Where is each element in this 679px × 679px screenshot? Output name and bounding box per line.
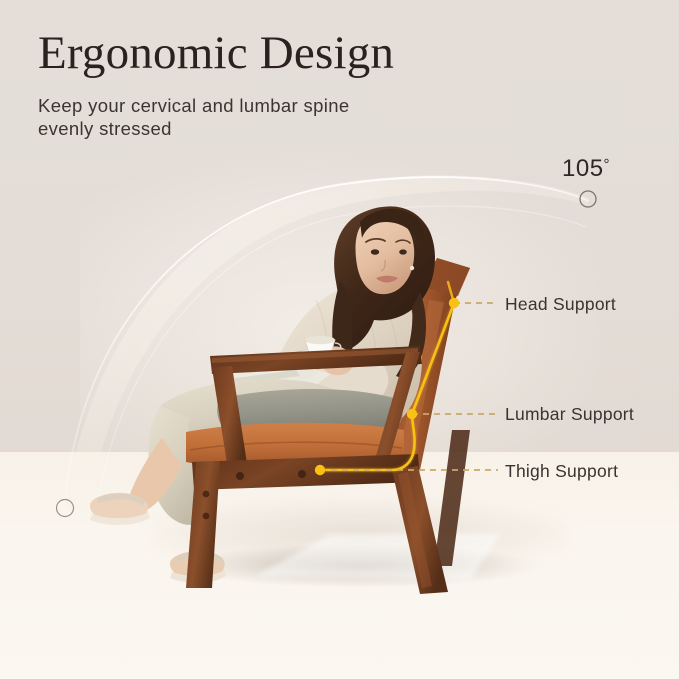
anchor-dot-head[interactable]	[449, 298, 459, 308]
callout-label-lumbar: Lumbar Support	[505, 404, 634, 425]
ergonomic-contour-line	[320, 303, 454, 470]
anchor-dot-thigh[interactable]	[315, 465, 325, 475]
ergonomic-contour-glow	[320, 303, 454, 470]
recline-angle-label: 105°	[562, 155, 610, 183]
page-title: Ergonomic Design	[38, 26, 394, 80]
recline-angle-value: 105	[562, 155, 604, 182]
callout-label-head: Head Support	[505, 294, 616, 315]
anchor-dot-lumbar[interactable]	[407, 409, 417, 419]
callout-label-thigh: Thigh Support	[505, 461, 618, 482]
page-subtitle: Keep your cervical and lumbar spine even…	[38, 94, 350, 140]
degree-symbol: °	[604, 156, 611, 173]
product-infographic: Ergonomic Design Keep your cervical and …	[0, 0, 679, 679]
